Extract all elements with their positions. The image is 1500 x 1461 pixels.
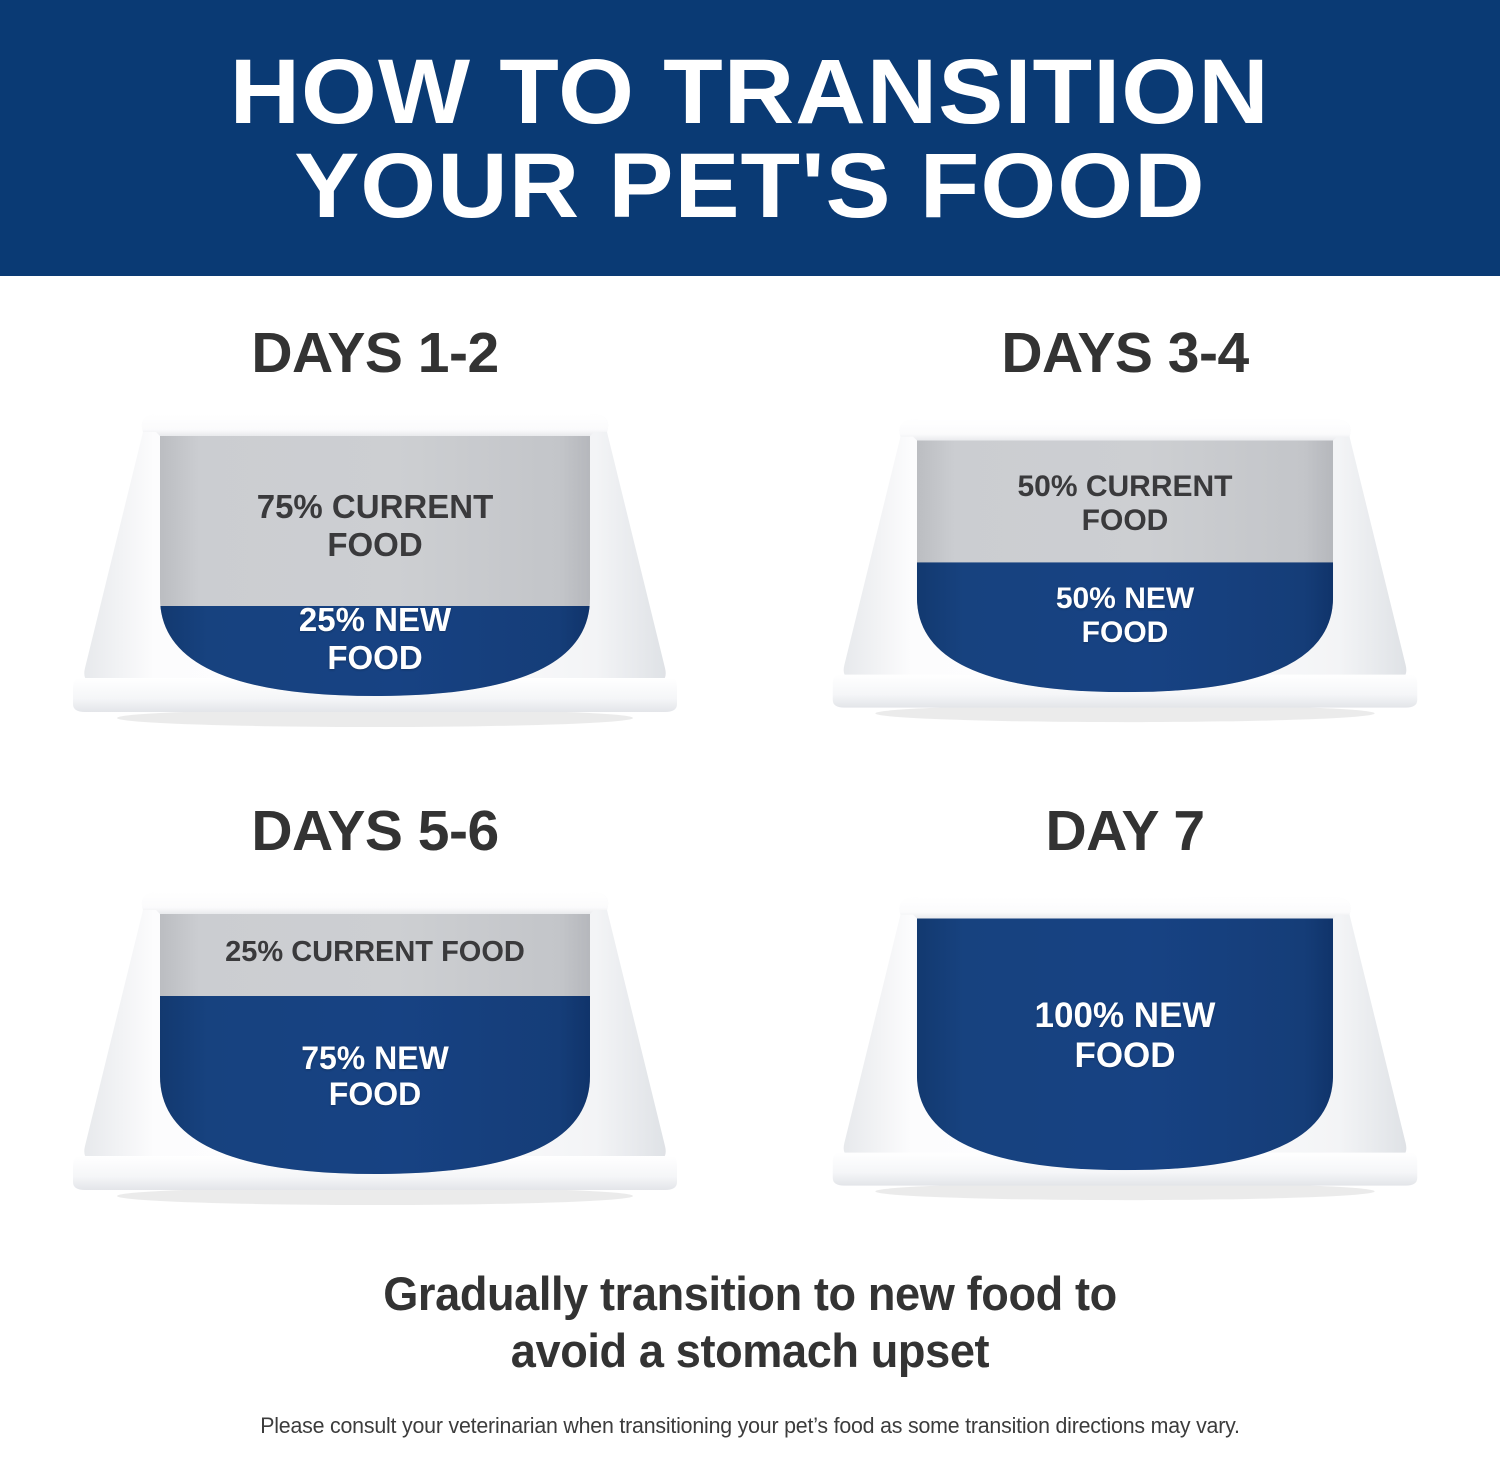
page-title-line-2: YOUR PET'S FOOD — [294, 140, 1205, 234]
step-card-days-3-4: DAYS 3-4 — [750, 320, 1500, 798]
bowl-contents — [912, 911, 1338, 1180]
new-food-fill — [912, 911, 1338, 1180]
header-banner: HOW TO TRANSITION YOUR PET'S FOOD — [0, 0, 1500, 276]
bowl-rim — [142, 414, 608, 436]
bowl-graphic — [825, 888, 1425, 1218]
bowl-contents — [912, 433, 1338, 702]
page-title-line-1: HOW TO TRANSITION — [230, 46, 1270, 140]
step-card-days-5-6: DAYS 5-6 — [0, 798, 750, 1276]
bowl-rim — [899, 897, 1350, 918]
bowl-rim — [899, 419, 1350, 440]
bowl-graphic — [825, 410, 1425, 740]
footer-disclaimer: Please consult your veterinarian when tr… — [23, 1413, 1478, 1439]
step-title-days-3-4: DAYS 3-4 — [1001, 320, 1248, 386]
footer-headline-line-2: avoid a stomach upset — [30, 1323, 1470, 1379]
footer: Gradually transition to new food to avoi… — [0, 1266, 1500, 1461]
bowl-illustration-days-5-6: 25% CURRENT FOOD 75% NEW FOOD — [65, 888, 685, 1218]
transition-steps-grid: DAYS 1-2 — [0, 276, 1500, 1276]
bowl-contents — [155, 428, 595, 706]
step-title-days-1-2: DAYS 1-2 — [251, 320, 498, 386]
step-title-days-5-6: DAYS 5-6 — [251, 798, 498, 864]
bowl-illustration-day-7: 100% NEW FOOD — [825, 888, 1425, 1218]
footer-headline: Gradually transition to new food to avoi… — [30, 1266, 1470, 1379]
bowl-illustration-days-3-4: 50% CURRENT FOOD 50% NEW FOOD — [825, 410, 1425, 740]
footer-headline-line-1: Gradually transition to new food to — [30, 1266, 1470, 1322]
bowl-graphic — [65, 410, 685, 740]
bowl-illustration-days-1-2: 75% CURRENT FOOD 25% NEW FOOD — [65, 410, 685, 740]
step-title-day-7: DAY 7 — [1045, 798, 1204, 864]
bowl-rim — [142, 892, 608, 914]
step-card-days-1-2: DAYS 1-2 — [0, 320, 750, 798]
bowl-graphic — [65, 888, 685, 1218]
step-card-day-7: DAY 7 — [750, 798, 1500, 1276]
bowl-contents — [155, 906, 595, 1184]
